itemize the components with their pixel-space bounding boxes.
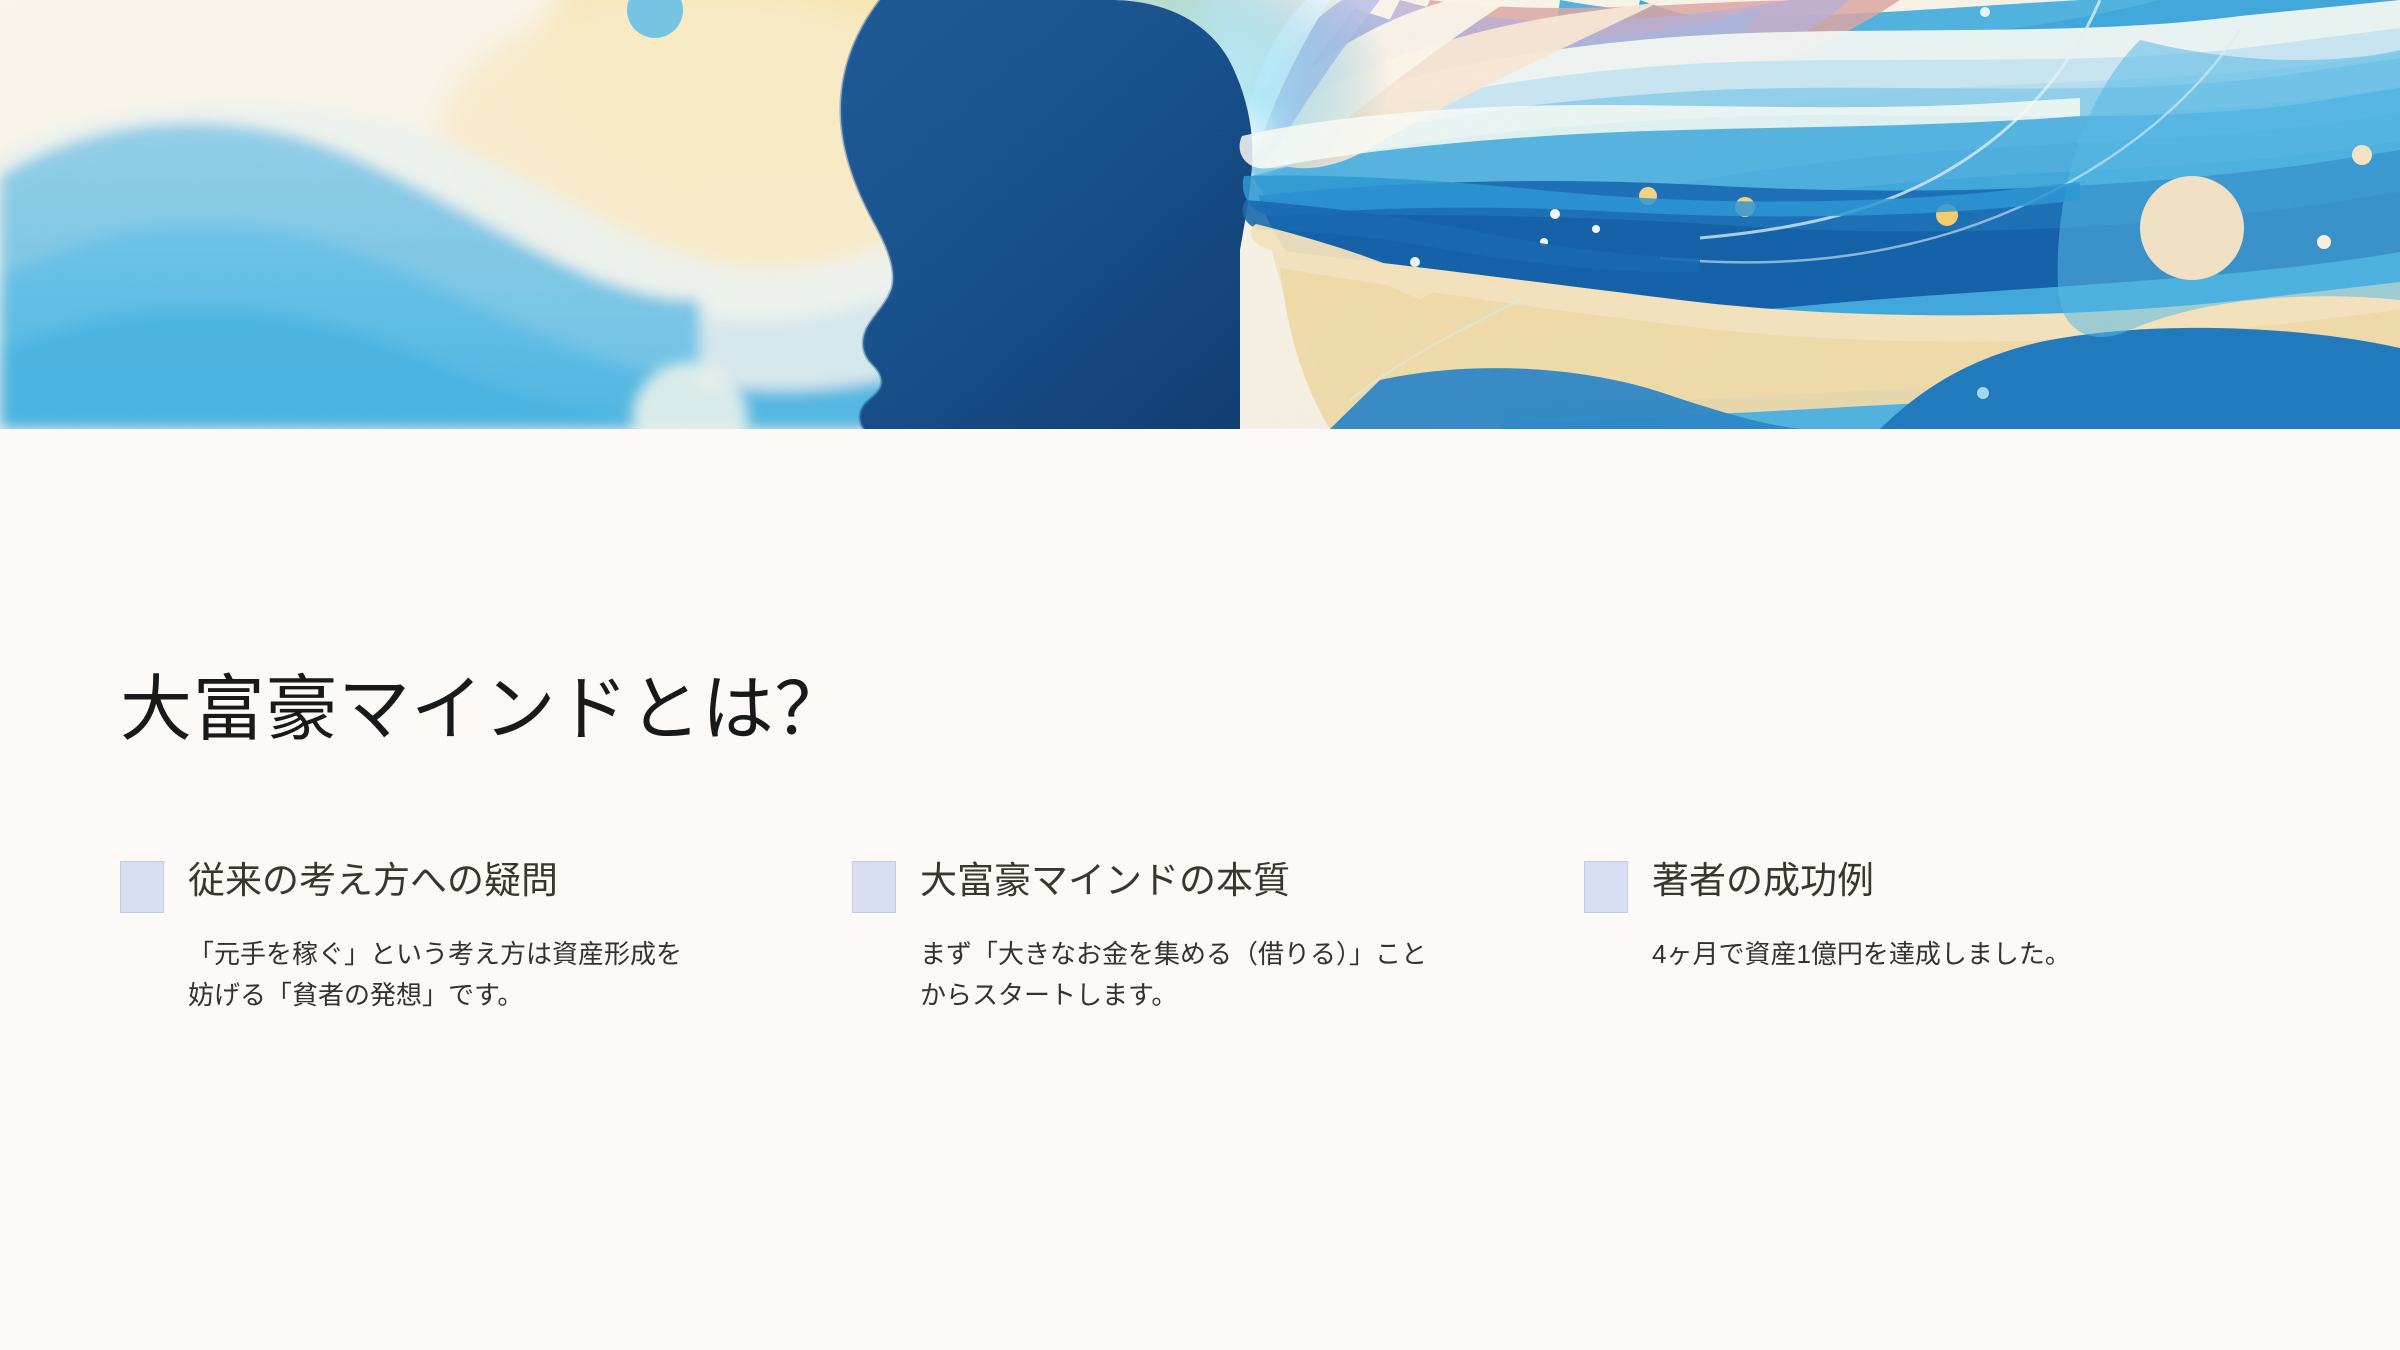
column-header: 著者の成功例 (1584, 859, 2276, 913)
grain-texture (0, 0, 2400, 429)
square-marker-icon (120, 861, 164, 913)
square-marker-icon (852, 861, 896, 913)
column-item: 従来の考え方への疑問 「元手を稼ぐ」という考え方は資産形成を 妨げる「貧者の発想… (120, 859, 852, 1016)
column-header: 従来の考え方への疑問 (120, 859, 812, 913)
square-marker-icon (1584, 861, 1628, 913)
column-item: 大富豪マインドの本質 まず「大きなお金を集める（借りる）」こと からスタートしま… (852, 859, 1584, 1016)
page-title: 大富豪マインドとは？ (120, 674, 847, 746)
column-title: 大富豪マインドの本質 (920, 859, 1290, 903)
column-title: 著者の成功例 (1652, 859, 1874, 903)
columns-row: 従来の考え方への疑問 「元手を稼ぐ」という考え方は資産形成を 妨げる「貧者の発想… (120, 859, 2320, 1016)
slide-root: 大富豪マインドとは？ 従来の考え方への疑問 「元手を稼ぐ」という考え方は資産形成… (0, 0, 2400, 1350)
column-body-text: 「元手を稼ぐ」という考え方は資産形成を 妨げる「貧者の発想」です。 (188, 934, 812, 1016)
column-title: 従来の考え方への疑問 (188, 859, 558, 903)
slide-content: 大富豪マインドとは？ 従来の考え方への疑問 「元手を稼ぐ」という考え方は資産形成… (0, 429, 2400, 1350)
column-body-text: まず「大きなお金を集める（借りる）」こと からスタートします。 (920, 934, 1544, 1016)
hero-illustration (0, 0, 2400, 429)
column-header: 大富豪マインドの本質 (852, 859, 1544, 913)
column-item: 著者の成功例 4ヶ月で資産1億円を達成しました。 (1584, 859, 2316, 975)
hero-banner-image (0, 0, 2400, 429)
column-body-text: 4ヶ月で資産1億円を達成しました。 (1652, 934, 2276, 975)
